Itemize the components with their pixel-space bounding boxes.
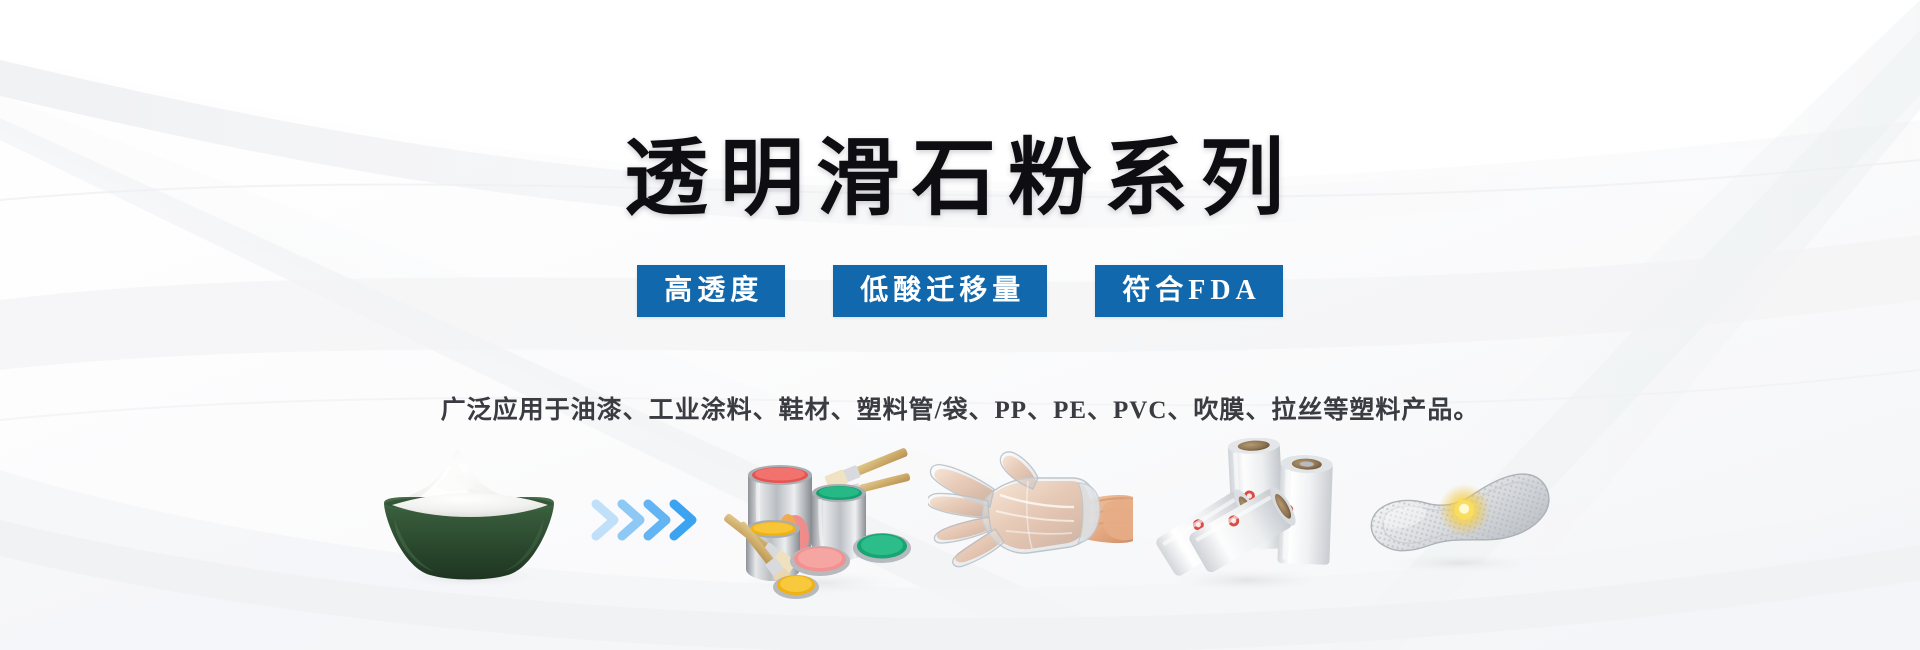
product-banner: 透明滑石粉系列 高透度 低酸迁移量 符合FDA 广泛应用于油漆、工业涂料、鞋材、… <box>0 0 1920 650</box>
product-strip <box>0 420 1920 620</box>
feature-badges: 高透度 低酸迁移量 符合FDA <box>0 265 1920 317</box>
page-title: 透明滑石粉系列 <box>624 134 1296 226</box>
title-container: 透明滑石粉系列 <box>0 78 1920 283</box>
chevron-right-icon <box>588 490 708 550</box>
badge-high-transparency[interactable]: 高透度 <box>637 265 785 317</box>
paint-cans-image <box>713 430 923 610</box>
paint-cans-icon <box>718 433 918 608</box>
process-arrows <box>583 430 713 610</box>
badge-fda-compliant[interactable]: 符合FDA <box>1095 265 1283 317</box>
badge-low-acid-migration[interactable]: 低酸迁移量 <box>833 265 1047 317</box>
shoe-sole-icon <box>1358 445 1563 595</box>
plastic-glove-icon <box>928 445 1133 595</box>
plastic-glove-image <box>923 430 1138 610</box>
film-rolls-image <box>1138 430 1353 610</box>
film-rolls-icon <box>1143 438 1348 603</box>
talc-powder-bowl-icon <box>358 435 578 605</box>
shoe-sole-image <box>1353 430 1568 610</box>
talc-powder-bowl-image <box>353 430 583 610</box>
